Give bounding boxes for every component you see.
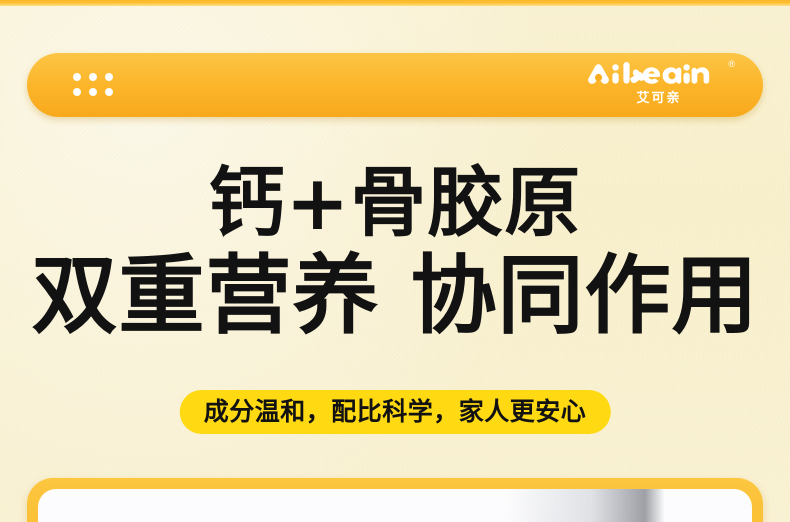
header-bar: ® 艾可亲: [27, 53, 763, 117]
headline-line-2: 双重营养 协同作用: [0, 248, 790, 344]
grid-menu-icon[interactable]: [73, 73, 113, 97]
grid-dot: [89, 73, 97, 81]
brand-wordmark-glyphs: [584, 60, 734, 90]
grid-dot: [105, 88, 113, 96]
subtitle-pill: 成分温和，配比科学，家人更安心: [180, 390, 611, 434]
product-card: [27, 478, 763, 522]
grid-dot: [73, 88, 81, 96]
headline-block: 钙+骨胶原 双重营养 协同作用: [0, 160, 790, 344]
headline-line-1: 钙+骨胶原: [0, 160, 790, 246]
grid-dot: [105, 73, 113, 81]
brand-wordmark: ®: [579, 60, 739, 90]
grid-dot: [73, 73, 81, 81]
promo-page: ® 艾可亲 钙+骨胶原 双重营养 协同作用 成分温和，配比科学，家人更安心: [0, 0, 790, 522]
registered-trademark-icon: ®: [728, 60, 735, 69]
grid-dot: [89, 88, 97, 96]
brand-sub-name: 艾可亲: [579, 91, 739, 106]
top-accent-strip: [0, 0, 790, 6]
product-bottle-image: [504, 489, 664, 522]
subtitle-text: 成分温和，配比科学，家人更安心: [204, 398, 587, 426]
brand-logo: ® 艾可亲: [579, 60, 739, 112]
product-card-inner: [38, 489, 752, 522]
